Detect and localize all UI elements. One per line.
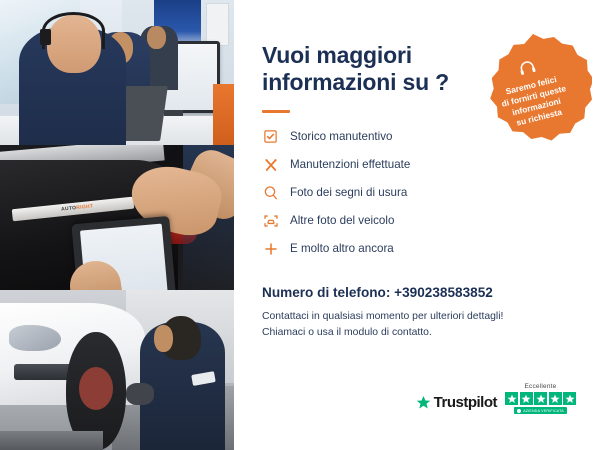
car-headlight: [9, 325, 60, 351]
contact-line-2: Chiamaci o usa il modulo di contatto.: [262, 325, 578, 341]
vehicle-lift: [0, 431, 103, 450]
mechanic-face: [154, 325, 173, 352]
trustpilot-rating: Eccellente: [505, 383, 576, 414]
feature-label: Storico manutentivo: [290, 130, 392, 143]
agent-headset-earcup: [40, 29, 52, 45]
headline-line-1: Vuoi maggiori: [262, 42, 412, 68]
list-item: Foto dei segni di usura: [262, 179, 578, 207]
phone-number-label: Numero di telefono: +390238583852: [262, 285, 578, 300]
badge-content: Saremo felici di fornirti queste informa…: [461, 21, 600, 164]
promo-banner: AUTORIGHT Vuoi maggiori informazioni: [0, 0, 600, 450]
car-photo-frame-icon: [262, 212, 279, 229]
feature-label: Foto dei segni di usura: [290, 186, 407, 199]
page-title: Vuoi maggiori informazioni su ?: [262, 42, 462, 96]
callout-badge: Saremo felici di fornirti queste informa…: [474, 34, 592, 152]
star-icon: [563, 392, 576, 405]
feature-label: Manutenzioni effettuate: [290, 158, 410, 171]
star-rating: [505, 392, 576, 405]
contact-instructions: Contattaci in qualsiasi momento per ulte…: [262, 309, 578, 341]
mechanic-glove: [126, 383, 154, 405]
headline-line-2: informazioni su ?: [262, 69, 449, 95]
feature-label: Altre foto del veicolo: [290, 214, 394, 227]
check-circle-icon: [517, 409, 521, 413]
rating-label: Eccellente: [525, 383, 557, 390]
mechanic-wheel-service-photo: [0, 290, 234, 450]
star-icon: [534, 392, 547, 405]
contact-line-1: Contattaci in qualsiasi momento per ulte…: [262, 309, 578, 325]
star-icon: [520, 392, 533, 405]
vehicle-inspection-tablet-photo: AUTORIGHT: [0, 145, 234, 290]
badge-text: Saremo felici di fornirti queste informa…: [488, 70, 582, 134]
trustpilot-star-icon: [416, 395, 431, 410]
star-icon: [505, 392, 518, 405]
title-divider: [262, 110, 290, 113]
wall-notice: [206, 3, 229, 47]
trustpilot-wordmark: Trustpilot: [434, 394, 497, 411]
list-item: Altre foto del veicolo: [262, 207, 578, 235]
list-item: E molto altro ancora: [262, 235, 578, 263]
photo-collage: AUTORIGHT: [0, 0, 234, 450]
tools-cross-icon: [262, 156, 279, 173]
star-icon: [549, 392, 562, 405]
plus-icon: [262, 240, 279, 257]
verified-business-badge: AZIENDA VERIFICATA: [514, 407, 567, 414]
background-worker-head: [147, 26, 166, 49]
orange-accent-object: [213, 84, 234, 145]
magnifier-icon: [262, 184, 279, 201]
feature-label: E molto altro ancora: [290, 242, 394, 255]
checkbox-checked-icon: [262, 128, 279, 145]
call-center-agents-photo: [0, 0, 234, 145]
trustpilot-logo[interactable]: Trustpilot: [416, 394, 497, 414]
verified-label: AZIENDA VERIFICATA: [523, 409, 564, 413]
list-item: Manutenzioni effettuate: [262, 151, 578, 179]
trustpilot-widget[interactable]: Trustpilot Eccellente: [416, 383, 576, 414]
agent-headset: [42, 12, 105, 50]
content-panel: Vuoi maggiori informazioni su ? Storico …: [234, 0, 600, 450]
